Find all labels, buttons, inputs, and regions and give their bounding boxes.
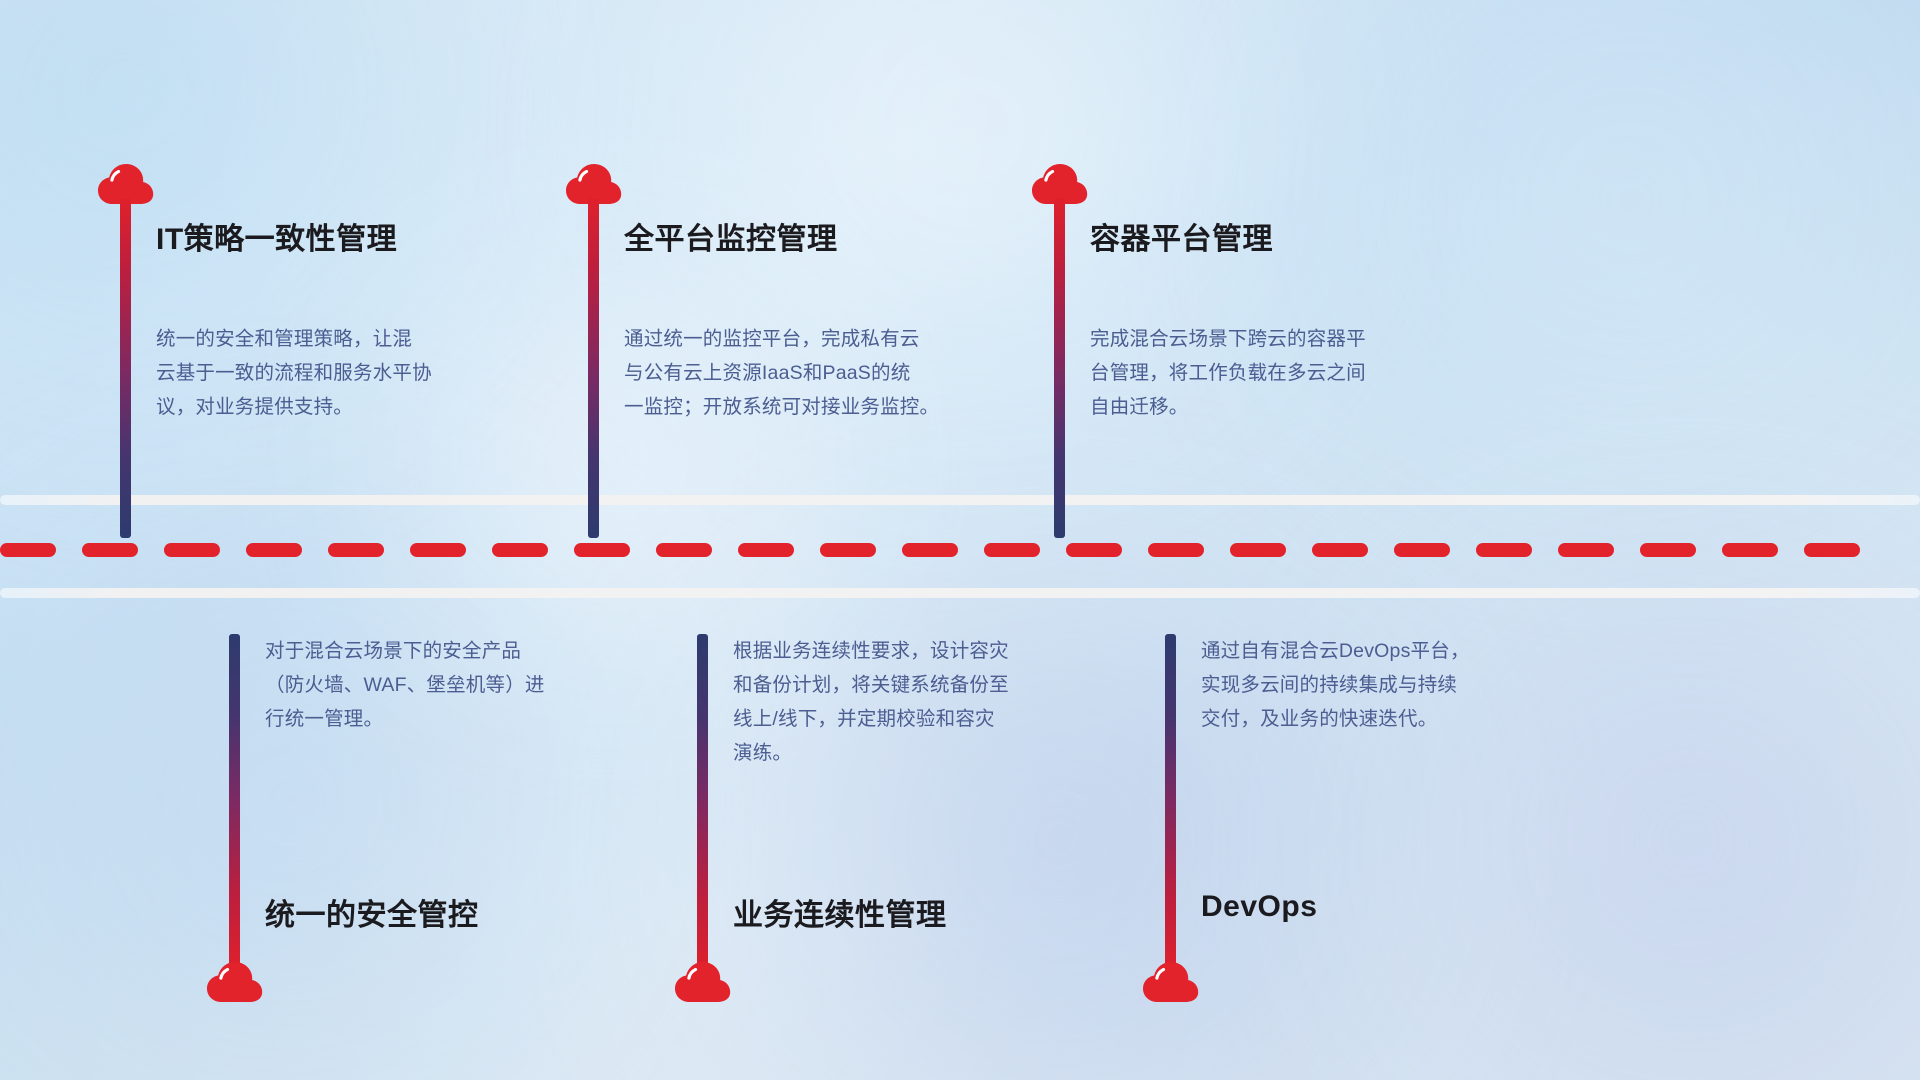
- description-line: 自由迁移。: [1090, 396, 1189, 418]
- divider-dash: [902, 543, 958, 557]
- description-line: 实现多云间的持续集成与持续: [1201, 674, 1457, 696]
- description-line: 与公有云上资源IaaS和PaaS的统: [624, 362, 910, 384]
- cloud-icon: [205, 958, 265, 1004]
- feature-title: 统一的安全管控: [265, 890, 479, 934]
- feature-description: 完成混合云场景下跨云的容器平台管理，将工作负载在多云之间自由迁移。: [1090, 322, 1450, 424]
- divider-dash: [1394, 543, 1450, 557]
- feature-description: 通过统一的监控平台，完成私有云与公有云上资源IaaS和PaaS的统一监控；开放系…: [624, 322, 984, 424]
- divider-dashed-line: [0, 543, 1920, 557]
- description-line: 根据业务连续性要求，设计容灾: [733, 640, 1009, 662]
- divider-line-top: [0, 495, 1920, 505]
- divider-dash: [328, 543, 384, 557]
- feature-title: 全平台监控管理: [624, 214, 838, 258]
- connector-stem: [697, 634, 708, 974]
- feature-title: 容器平台管理: [1090, 214, 1273, 258]
- divider-dash: [984, 543, 1040, 557]
- feature-description: 统一的安全和管理策略，让混云基于一致的流程和服务水平协议，对业务提供支持。: [156, 322, 516, 424]
- divider-dash: [738, 543, 794, 557]
- description-line: 通过统一的监控平台，完成私有云: [624, 328, 920, 350]
- divider-dash: [1722, 543, 1778, 557]
- feature-title: 业务连续性管理: [733, 890, 947, 934]
- connector-stem: [1054, 198, 1065, 538]
- connector-stem: [229, 634, 240, 974]
- description-line: 台管理，将工作负载在多云之间: [1090, 362, 1366, 384]
- description-line: 演练。: [733, 742, 792, 764]
- divider-dash: [82, 543, 138, 557]
- feature-description: 通过自有混合云DevOps平台，实现多云间的持续集成与持续交付，及业务的快速迭代…: [1201, 634, 1561, 736]
- divider-dash: [1804, 543, 1860, 557]
- description-line: 行统一管理。: [265, 708, 383, 730]
- infographic-canvas: IT策略一致性管理 统一的安全和管理策略，让混云基于一致的流程和服务水平协议，对…: [0, 0, 1920, 1080]
- description-line: 通过自有混合云DevOps平台，: [1201, 640, 1470, 662]
- description-line: 一监控；开放系统可对接业务监控。: [624, 396, 939, 418]
- divider-dash: [1230, 543, 1286, 557]
- feature-title: IT策略一致性管理: [156, 214, 397, 258]
- divider-dash: [574, 543, 630, 557]
- divider-line-bottom: [0, 588, 1920, 598]
- divider-dash: [1558, 543, 1614, 557]
- divider-dash: [164, 543, 220, 557]
- description-line: 统一的安全和管理策略，让混: [156, 328, 412, 350]
- feature-title: DevOps: [1201, 890, 1317, 924]
- description-line: 和备份计划，将关键系统备份至: [733, 674, 1009, 696]
- divider-dash: [1066, 543, 1122, 557]
- description-line: 议，对业务提供支持。: [156, 396, 353, 418]
- divider-dash: [0, 543, 56, 557]
- divider-dash: [1312, 543, 1368, 557]
- description-line: 对于混合云场景下的安全产品: [265, 640, 521, 662]
- divider-dash: [492, 543, 548, 557]
- cloud-icon: [1141, 958, 1201, 1004]
- divider-dash: [1640, 543, 1696, 557]
- description-line: 云基于一致的流程和服务水平协: [156, 362, 432, 384]
- description-line: 完成混合云场景下跨云的容器平: [1090, 328, 1366, 350]
- divider-dash: [656, 543, 712, 557]
- divider-dash: [1476, 543, 1532, 557]
- feature-description: 根据业务连续性要求，设计容灾和备份计划，将关键系统备份至线上/线下，并定期校验和…: [733, 634, 1093, 770]
- connector-stem: [1165, 634, 1176, 974]
- divider-dash: [820, 543, 876, 557]
- description-line: 交付，及业务的快速迭代。: [1201, 708, 1437, 730]
- divider-dash: [1148, 543, 1204, 557]
- feature-description: 对于混合云场景下的安全产品（防火墙、WAF、堡垒机等）进行统一管理。: [265, 634, 625, 736]
- divider-dash: [246, 543, 302, 557]
- connector-stem: [120, 198, 131, 538]
- divider-dash: [410, 543, 466, 557]
- description-line: 线上/线下，并定期校验和容灾: [733, 708, 995, 730]
- connector-stem: [588, 198, 599, 538]
- cloud-icon: [673, 958, 733, 1004]
- description-line: （防火墙、WAF、堡垒机等）进: [265, 674, 545, 696]
